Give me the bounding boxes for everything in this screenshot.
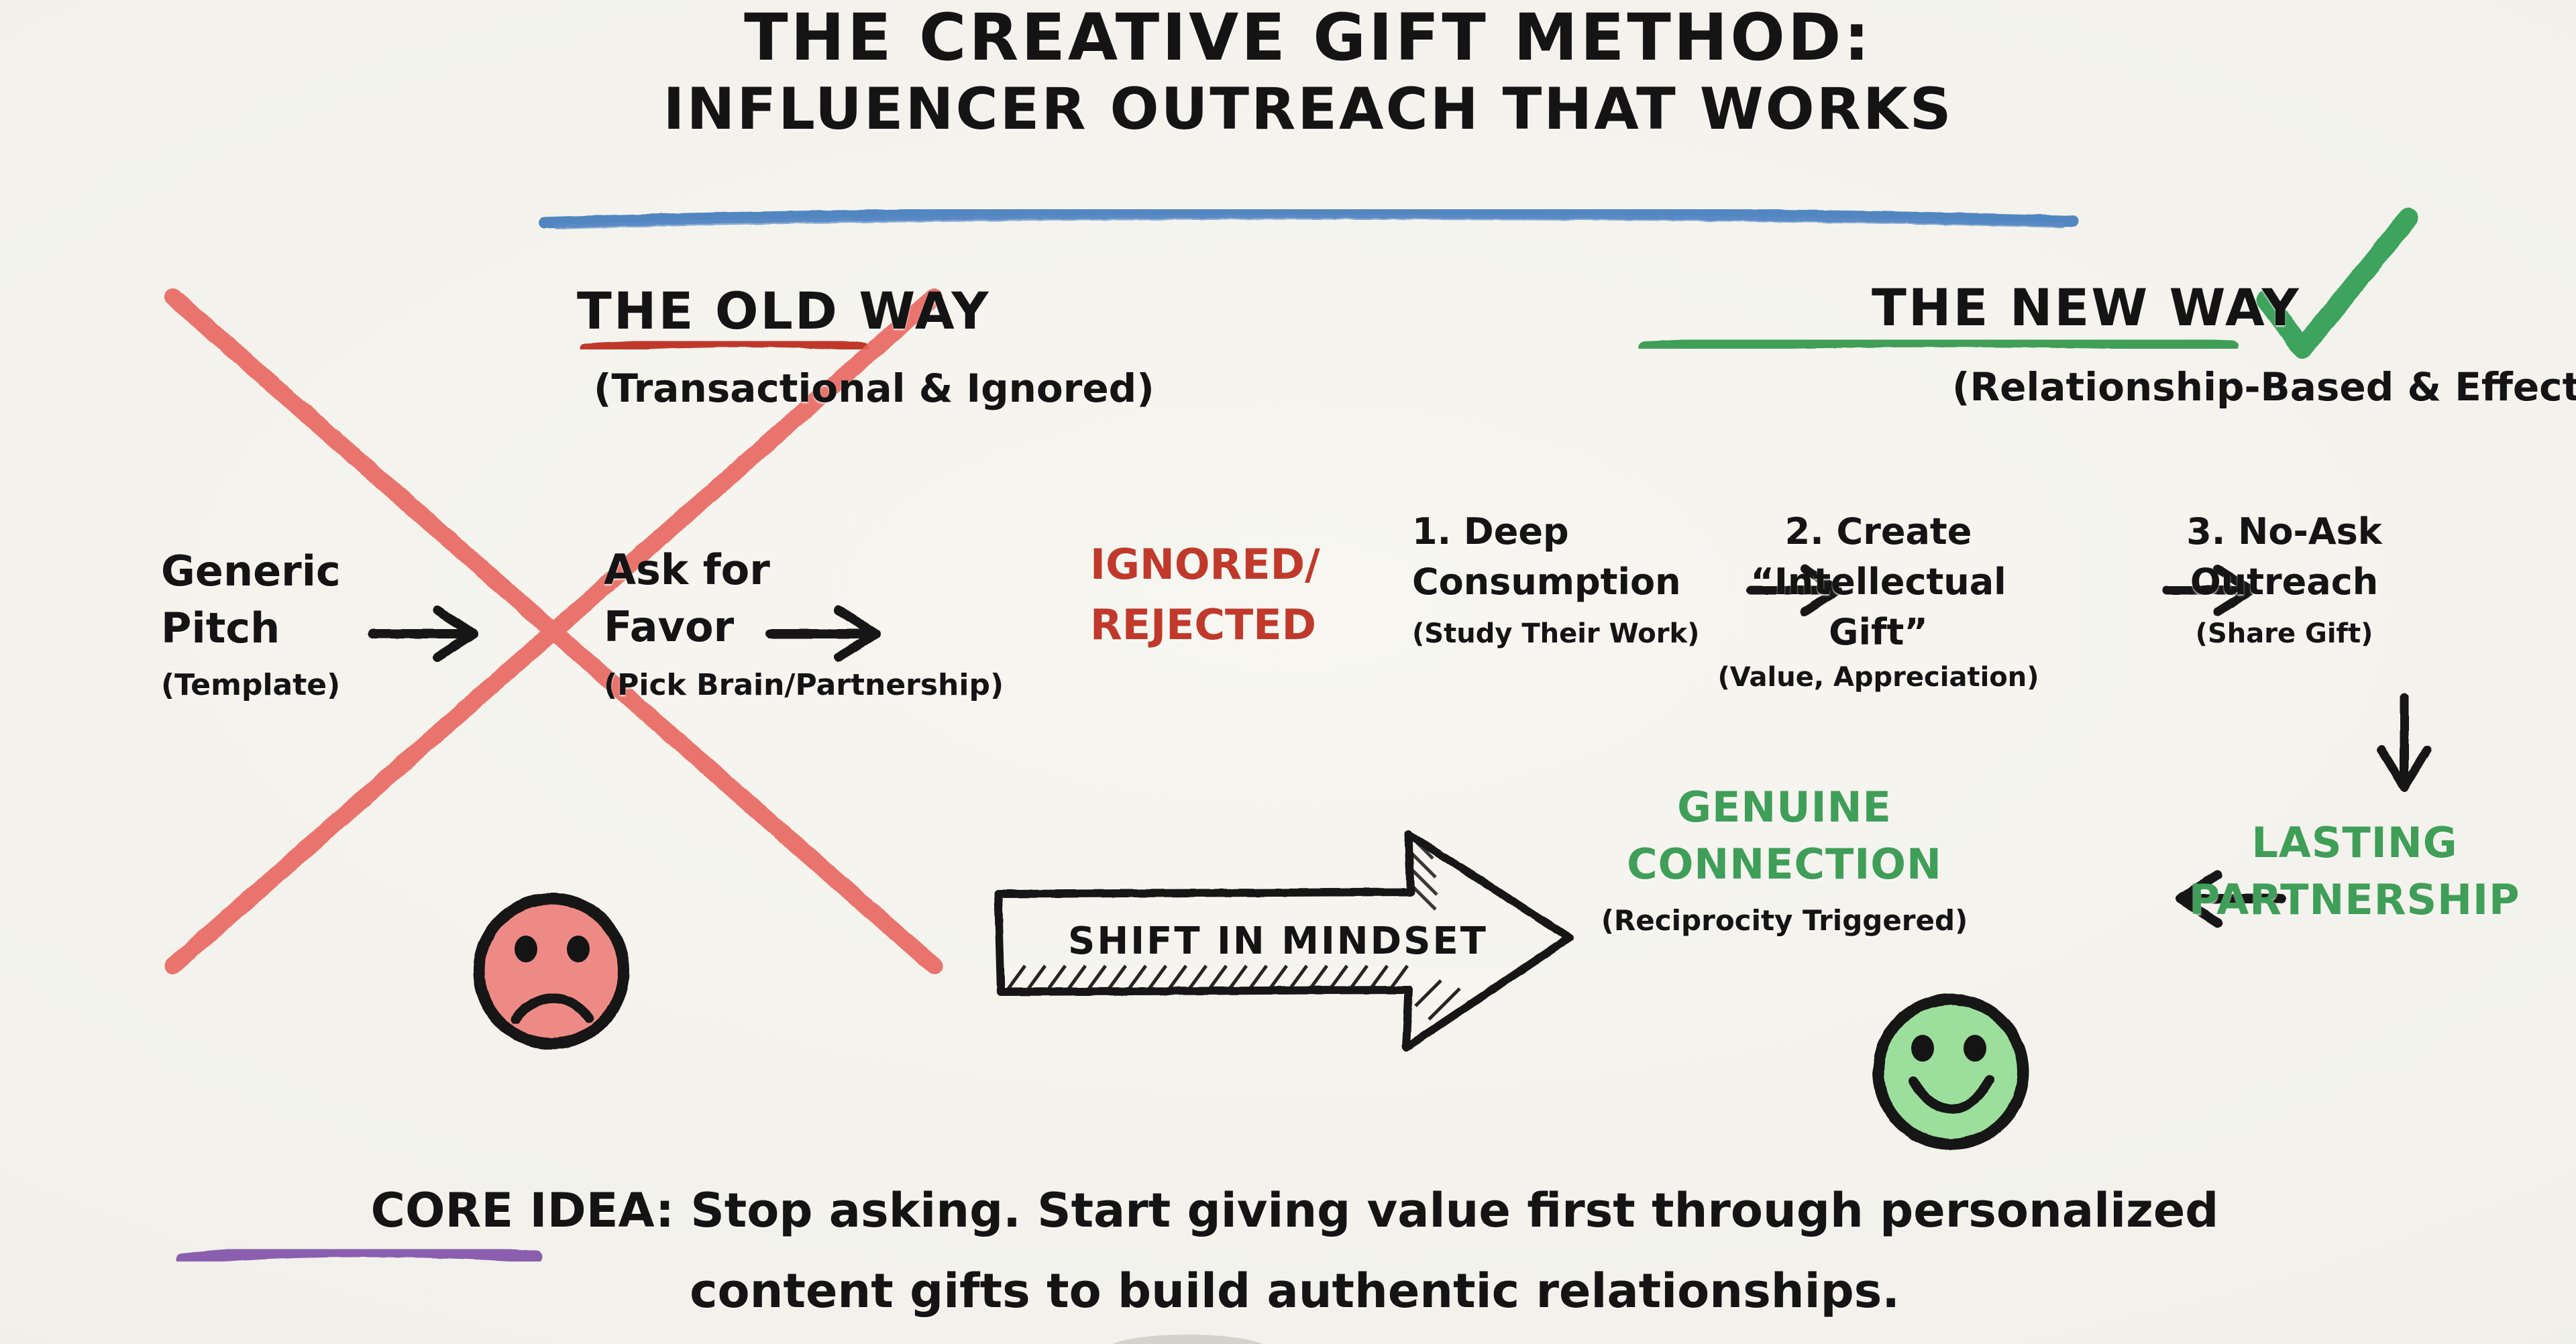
old-step-1-line1: Generic: [161, 550, 341, 592]
page-title-line1: THE CREATIVE GIFT METHOD:: [744, 5, 1872, 71]
old-way-underline: [585, 343, 864, 348]
old-step-1-note: (Template): [161, 671, 340, 701]
shift-in-mindset-label: SHIFT IN MINDSET: [1068, 922, 1488, 960]
sad-face-icon: [479, 899, 624, 1044]
lasting-partnership-line2: PARTNERSHIP: [2189, 879, 2520, 921]
core-idea-line2: content gifts to build authentic relatio…: [690, 1268, 1900, 1315]
new-step-2-line1: 2. Create: [1785, 513, 1972, 550]
old-outcome-line1: IGNORED/: [1090, 543, 1320, 585]
genuine-connection-line1: GENUINE: [1677, 786, 1892, 828]
old-step-2-note: (Pick Brain/Partnership): [604, 671, 1004, 701]
new-step-2-line3: Gift”: [1829, 614, 1928, 651]
genuine-connection-line2: CONNECTION: [1627, 843, 1942, 885]
arrow-generic-to-ask-icon: [373, 610, 474, 657]
genuine-connection-note: (Reciprocity Triggered): [1601, 907, 1968, 936]
old-outcome-line2: REJECTED: [1090, 604, 1316, 646]
new-step-1-note: (Study Their Work): [1412, 620, 1699, 648]
bottom-edge-smudge: [1107, 1335, 1268, 1344]
new-step-1-line1: 1. Deep: [1412, 513, 1569, 550]
new-step-2-line2: “Intellectual: [1750, 563, 2006, 600]
core-idea-line1-rest: Stop asking. Start giving value first th…: [674, 1183, 2218, 1238]
arrow-ask-to-ignored-icon: [770, 610, 876, 657]
core-idea-underline: [182, 1251, 537, 1259]
new-step-3-note: (Share Gift): [2196, 620, 2373, 648]
page-title-line2: INFLUENCER OUTREACH THAT WORKS: [663, 80, 1953, 139]
new-way-heading: THE NEW WAY: [1872, 282, 2301, 334]
old-step-2-line1: Ask for: [604, 549, 770, 591]
arrow-step3-down-icon: [2381, 697, 2427, 787]
lasting-partnership-line1: LASTING: [2251, 822, 2457, 864]
new-step-2-note: (Value, Appreciation): [1717, 664, 2039, 691]
marker-strokes-layer: [0, 0, 2576, 1344]
title-underline: [545, 213, 2073, 227]
new-step-3-line1: 3. No-Ask: [2186, 513, 2381, 550]
new-way-subtitle: (Relationship-Based & Effective): [1952, 368, 2576, 407]
new-way-underline: [1645, 341, 2233, 347]
core-idea-label: CORE IDEA:: [371, 1183, 674, 1238]
old-step-2-line2: Favor: [604, 606, 734, 648]
core-idea-line1: CORE IDEA: Stop asking. Start giving val…: [371, 1187, 2219, 1235]
old-way-subtitle: (Transactional & Ignored): [594, 369, 1155, 408]
happy-face-icon: [1878, 999, 2023, 1144]
old-way-heading: THE OLD WAY: [577, 285, 990, 337]
new-step-1-line2: Consumption: [1412, 563, 1681, 600]
old-step-1-line2: Pitch: [161, 607, 280, 649]
new-step-3-line2: Outreach: [2190, 563, 2378, 600]
